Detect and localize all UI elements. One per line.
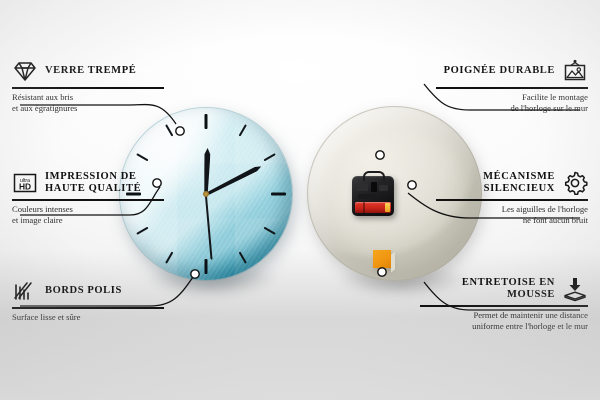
movement-detail — [358, 194, 376, 199]
callout-description: Les aiguilles de l'horloge ne font aucun… — [436, 204, 588, 227]
callout-title: IMPRESSION DE HAUTE QUALITÉ — [45, 171, 164, 196]
callout-rule — [12, 199, 164, 201]
callout-rule — [436, 199, 588, 201]
callout-bords-polis: BORDS POLIS Surface lisse et sûre — [12, 278, 164, 323]
clock-movement-box — [352, 176, 394, 216]
callout-rule — [12, 307, 164, 309]
foam-spacer-icon — [562, 276, 588, 302]
callout-description: Résistant aux bris et aux égratignures — [12, 92, 164, 115]
polished-edges-icon — [12, 278, 38, 304]
callout-header: POIGNÉE DURABLE — [436, 58, 588, 84]
callout-mecanisme-silencieux: MÉCANISME SILENCIEUX Les aiguilles de l'… — [436, 170, 588, 227]
picture-hanger-icon — [562, 58, 588, 84]
battery-band — [363, 202, 365, 213]
battery-terminal — [385, 203, 390, 212]
callout-header: VERRE TREMPÉ — [12, 58, 164, 84]
hand-pin — [203, 191, 209, 197]
callout-verre-trempe: VERRE TREMPÉ Résistant aux bris et aux é… — [12, 58, 164, 115]
callout-description: Surface lisse et sûre — [12, 312, 164, 324]
callout-title: POIGNÉE DURABLE — [436, 65, 555, 77]
callout-description: Permet de maintenir une distance uniform… — [420, 310, 588, 333]
callout-header: ultra HD IMPRESSION DE HAUTE QUALITÉ — [12, 170, 164, 196]
callout-description: Couleurs intenses et image claire — [12, 204, 164, 227]
callout-title: BORDS POLIS — [45, 285, 164, 297]
callout-header: ENTRETOISE EN MOUSSE — [420, 276, 588, 302]
callout-header: BORDS POLIS — [12, 278, 164, 304]
hanger-handle-icon — [363, 171, 385, 181]
tick-mark — [205, 114, 208, 129]
callout-rule — [420, 305, 588, 307]
diamond-icon — [12, 58, 38, 84]
battery — [355, 202, 391, 213]
foam-spacer — [373, 250, 391, 268]
infographic-canvas: VERRE TREMPÉ Résistant aux bris et aux é… — [0, 0, 600, 400]
movement-detail — [371, 182, 377, 192]
movement-detail — [357, 184, 368, 191]
callout-title: VERRE TREMPÉ — [45, 65, 164, 77]
callout-poignee-durable: POIGNÉE DURABLE Facilite le montage de l… — [436, 58, 588, 115]
callout-title: ENTRETOISE EN MOUSSE — [420, 277, 555, 302]
callout-entretoise-mousse: ENTRETOISE EN MOUSSE Permet de maintenir… — [420, 276, 588, 333]
ultra-hd-icon: ultra HD — [12, 170, 38, 196]
gear-icon — [562, 170, 588, 196]
callout-description: Facilite le montage de l'horloge sur le … — [436, 92, 588, 115]
callout-header: MÉCANISME SILENCIEUX — [436, 170, 588, 196]
callout-impression-haute-qualite: ultra HD IMPRESSION DE HAUTE QUALITÉ Cou… — [12, 170, 164, 227]
movement-detail — [379, 185, 388, 191]
tick-mark — [271, 193, 286, 196]
tick-mark — [205, 259, 208, 274]
callout-rule — [12, 87, 164, 89]
svg-text:HD: HD — [19, 181, 31, 191]
callout-rule — [436, 87, 588, 89]
callout-title: MÉCANISME SILENCIEUX — [436, 171, 555, 196]
